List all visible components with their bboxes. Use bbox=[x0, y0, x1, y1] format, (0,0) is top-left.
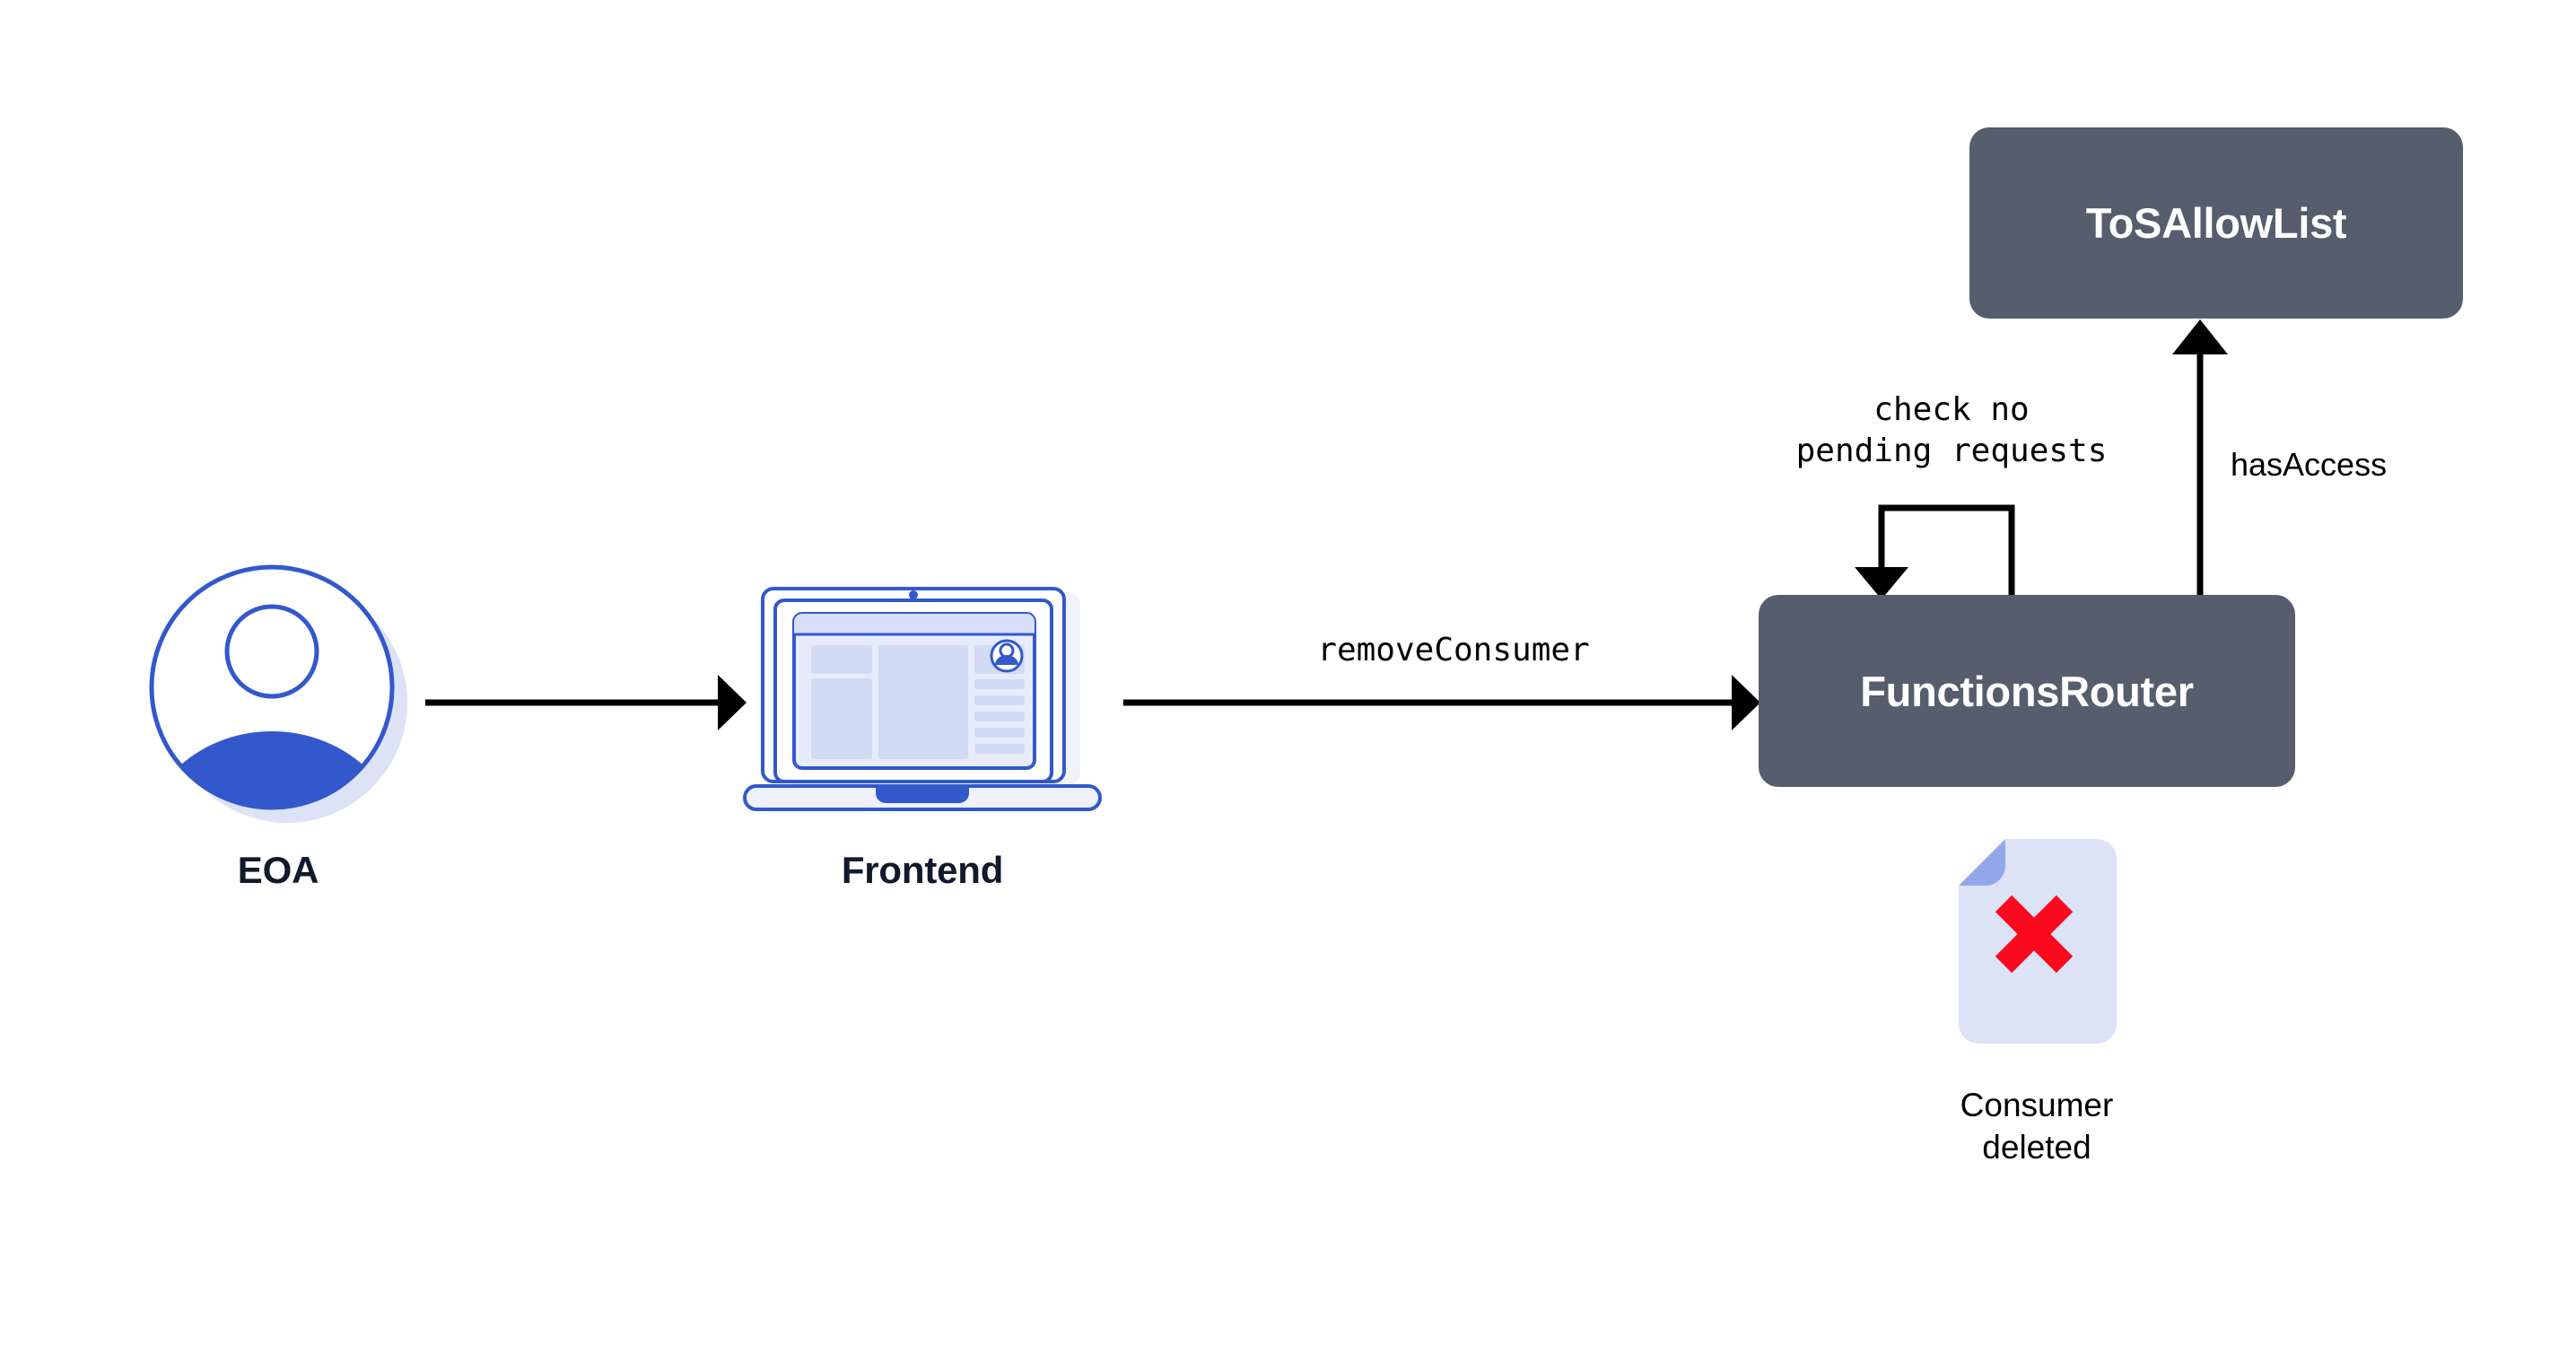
document-error-icon bbox=[1959, 839, 2117, 1044]
node-functions-router[interactable]: FunctionsRouter bbox=[1759, 595, 2295, 787]
node-eoa bbox=[148, 564, 408, 824]
node-consumer-deleted-caption: Consumer deleted bbox=[1893, 1084, 2180, 1169]
user-avatar-icon bbox=[148, 564, 408, 824]
edge-label-has-access: hasAccess bbox=[2231, 444, 2482, 485]
edge-label-line-2: pending requests bbox=[1741, 431, 2162, 472]
laptop-icon bbox=[729, 572, 1116, 822]
edge-router-self-loop bbox=[1855, 508, 2012, 599]
node-tos-allowlist-label: ToSAllowList bbox=[2086, 202, 2347, 244]
edge-label-remove-consumer: removeConsumer bbox=[1247, 630, 1660, 671]
node-frontend-label: Frontend bbox=[729, 850, 1116, 891]
node-frontend bbox=[729, 572, 1116, 822]
diagram-canvas: EOA bbox=[0, 0, 2576, 1363]
node-eoa-label: EOA bbox=[148, 850, 408, 891]
node-functions-router-label: FunctionsRouter bbox=[1860, 670, 2193, 712]
caption-line-2: deleted bbox=[1893, 1126, 2180, 1168]
edge-router-to-tos bbox=[2172, 319, 2228, 595]
node-consumer-deleted bbox=[1959, 839, 2117, 1044]
caption-line-1: Consumer bbox=[1893, 1084, 2180, 1126]
edge-label-line-1: check no bbox=[1741, 389, 2162, 431]
edge-frontend-to-router bbox=[1123, 675, 1760, 730]
edge-eoa-to-frontend bbox=[425, 675, 747, 730]
node-tos-allowlist[interactable]: ToSAllowList bbox=[1969, 127, 2463, 319]
edge-label-check-no-pending-requests: check no pending requests bbox=[1741, 389, 2162, 472]
